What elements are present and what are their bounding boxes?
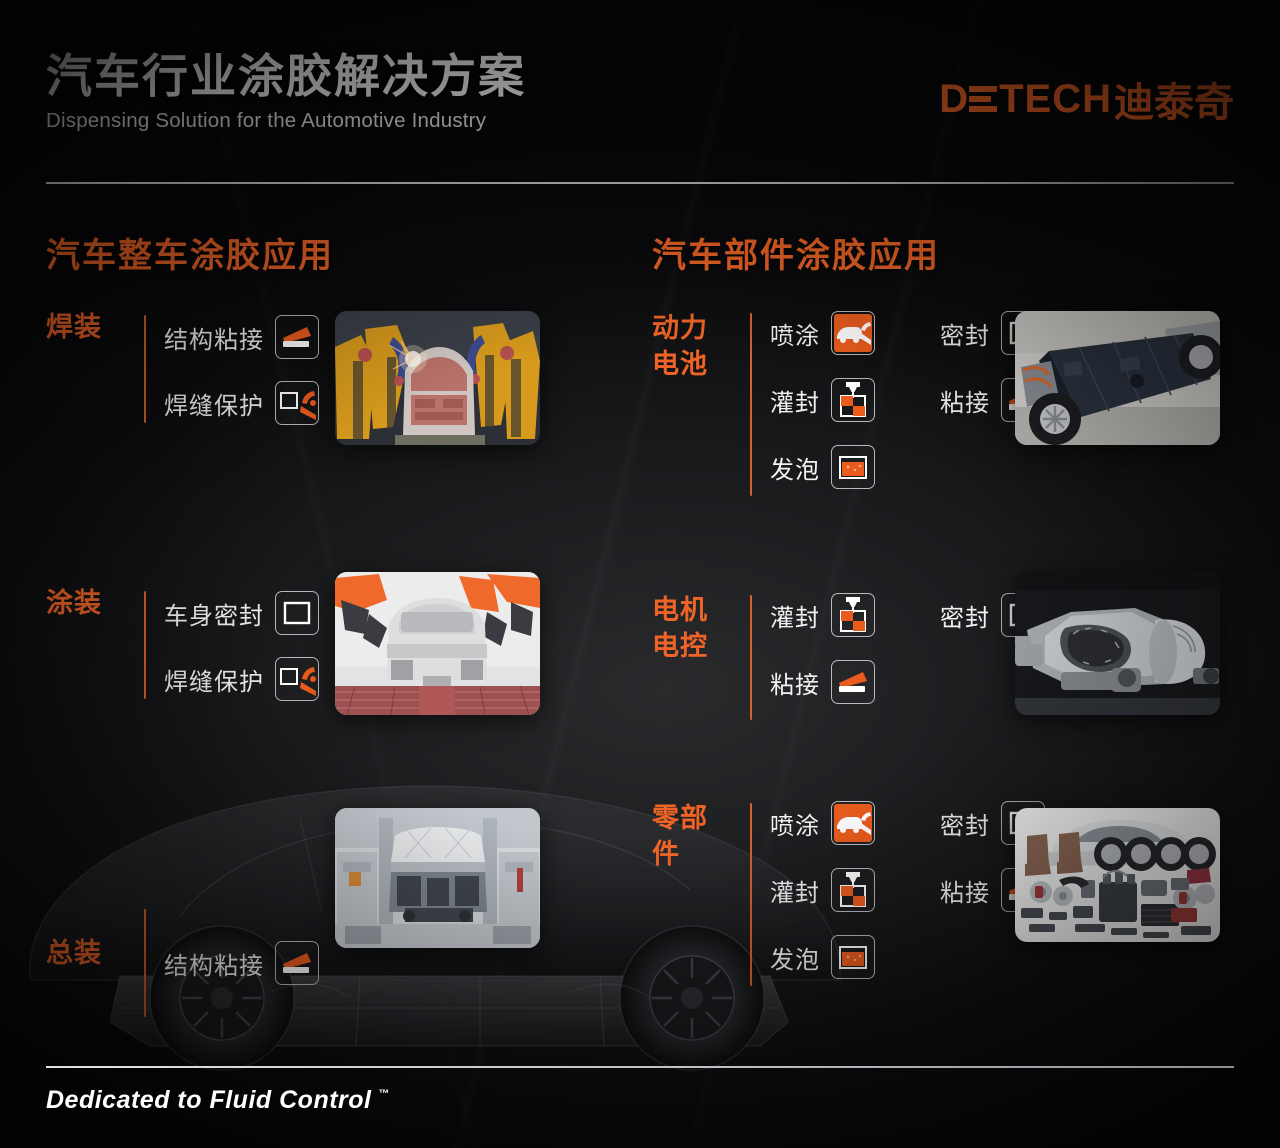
item-label: 结构粘接 [164, 320, 264, 355]
item-label: 密封 [940, 598, 990, 633]
item-potting[interactable]: 灌封 [770, 868, 940, 912]
potting-nozzle-icon [831, 378, 875, 422]
potting-nozzle-icon [831, 868, 875, 912]
category-line: 电机 [652, 593, 738, 629]
category-divider [750, 313, 752, 496]
spray-coating-car-robot-icon [831, 801, 875, 845]
item-label: 焊缝保护 [164, 386, 264, 421]
seam-sealing-robot-icon [275, 657, 319, 701]
item-label: 发泡 [770, 940, 820, 975]
final-assembly-photo [335, 808, 540, 948]
item-foaming[interactable]: 发泡 [770, 445, 940, 489]
header-divider [46, 182, 1234, 184]
item-label: 结构粘接 [164, 946, 264, 981]
category-welding: 焊装 [46, 311, 132, 345]
category-divider [144, 591, 146, 699]
item-label: 粘接 [940, 383, 990, 418]
item-structural-bonding[interactable]: 结构粘接 [164, 941, 319, 985]
item-seam-sealing[interactable]: 焊缝保护 [164, 657, 319, 701]
structural-bonding-icon [275, 941, 319, 985]
item-label: 密封 [940, 806, 990, 841]
item-label: 灌封 [770, 598, 820, 633]
emotor-edrive-photo [1015, 572, 1220, 715]
item-bonding[interactable]: 粘接 [770, 660, 940, 704]
trademark-mark: ™ [379, 1088, 391, 1100]
category-final-assembly: 总装 [46, 937, 132, 971]
category-line: 电控 [652, 629, 738, 665]
item-label: 粘接 [940, 873, 990, 908]
logo-d: D [939, 79, 969, 119]
item-label: 喷涂 [770, 316, 820, 351]
category-line: 件 [652, 837, 738, 873]
structural-bonding-icon [831, 660, 875, 704]
item-label: 车身密封 [164, 596, 264, 631]
footer-divider [46, 1066, 1234, 1068]
category-battery: 动力 电池 [652, 311, 738, 383]
logo-chinese-name: 迪泰奇 [1114, 70, 1234, 128]
column-heading-components: 汽车部件涂胶应用 [652, 228, 1242, 277]
body-sealing-icon [275, 591, 319, 635]
category-line: 零部 [652, 801, 738, 837]
item-structural-bonding[interactable]: 结构粘接 [164, 315, 319, 359]
category-divider [144, 909, 146, 1017]
potting-nozzle-icon [831, 593, 875, 637]
welding-robot-line-photo [335, 311, 540, 445]
structural-bonding-icon [275, 315, 319, 359]
seam-sealing-robot-icon [275, 381, 319, 425]
category-divider [750, 595, 752, 720]
category-divider [144, 315, 146, 423]
footer-tagline: Dedicated to Fluid Control ™ [46, 1086, 390, 1115]
item-label: 喷涂 [770, 806, 820, 841]
logo-e-mark [969, 79, 999, 119]
item-seam-sealing[interactable]: 焊缝保护 [164, 381, 319, 425]
item-label: 发泡 [770, 450, 820, 485]
item-spray[interactable]: 喷涂 [770, 801, 940, 845]
item-label: 灌封 [770, 383, 820, 418]
detech-logo: D TECH 迪泰奇 [939, 70, 1234, 128]
auto-parts-exploded-photo [1015, 808, 1220, 942]
category-divider [750, 803, 752, 986]
page-header: 汽车行业涂胶解决方案 Dispensing Solution for the A… [46, 52, 1234, 184]
foaming-icon [831, 935, 875, 979]
foaming-icon [831, 445, 875, 489]
category-emotor: 电机 电控 [652, 593, 738, 665]
item-label: 灌封 [770, 873, 820, 908]
item-label: 密封 [940, 316, 990, 351]
paint-booth-photo [335, 572, 540, 715]
item-potting[interactable]: 灌封 [770, 378, 940, 422]
item-spray[interactable]: 喷涂 [770, 311, 940, 355]
column-heading-vehicle: 汽车整车涂胶应用 [46, 228, 606, 277]
spray-coating-car-robot-icon [831, 311, 875, 355]
logo-tech: TECH [999, 79, 1112, 119]
tagline-text: Dedicated to Fluid Control [46, 1086, 372, 1115]
item-label: 焊缝保护 [164, 662, 264, 697]
poster-page: 汽车行业涂胶解决方案 Dispensing Solution for the A… [0, 0, 1280, 1148]
item-label: 粘接 [770, 665, 820, 700]
item-foaming[interactable]: 发泡 [770, 935, 940, 979]
item-potting[interactable]: 灌封 [770, 593, 940, 637]
category-painting: 涂装 [46, 587, 132, 621]
item-body-sealing[interactable]: 车身密封 [164, 591, 319, 635]
category-line: 电池 [652, 347, 738, 383]
battery-pack-photo [1015, 311, 1220, 445]
category-line: 动力 [652, 311, 738, 347]
category-parts: 零部 件 [652, 801, 738, 873]
